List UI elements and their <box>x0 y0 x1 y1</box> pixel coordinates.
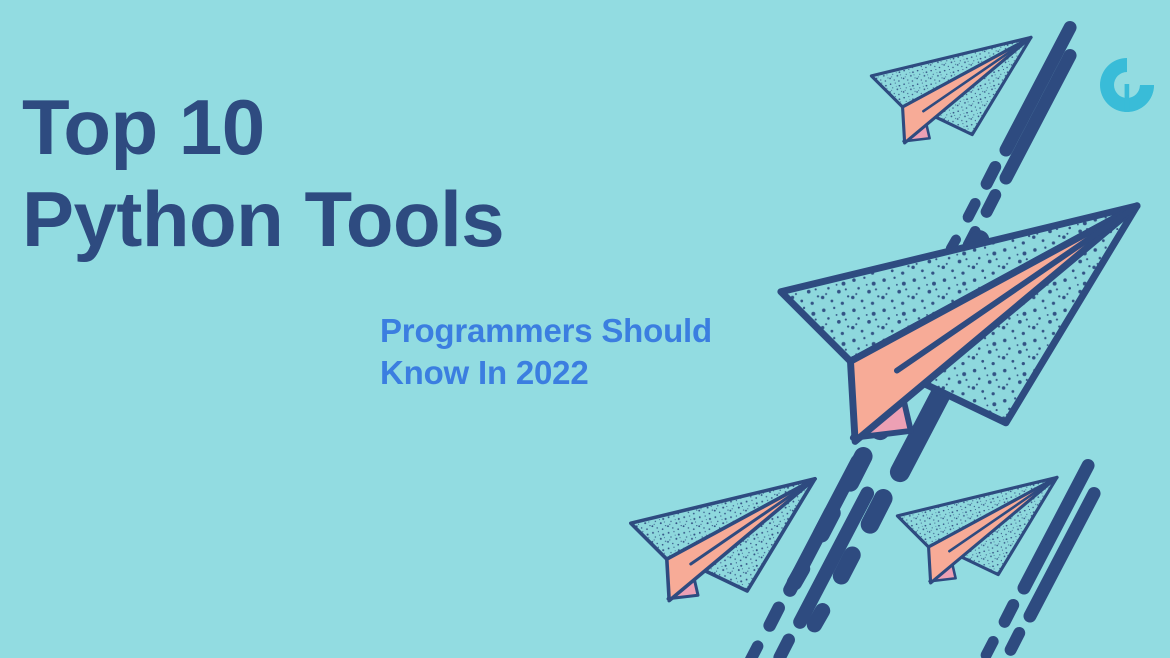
subtitle-line-1: Programmers Should <box>380 310 712 352</box>
title-line-1: Top 10 <box>22 88 504 168</box>
subtitle-line-2: Know In 2022 <box>380 352 712 394</box>
text-overlay: Top 10 Python Tools Programmers Should K… <box>0 0 1170 658</box>
title-line-2: Python Tools <box>22 180 504 260</box>
brand-logo <box>1098 56 1156 114</box>
banner-graphic: Top 10 Python Tools Programmers Should K… <box>0 0 1170 658</box>
page-title: Top 10 Python Tools <box>22 88 504 259</box>
page-subtitle: Programmers Should Know In 2022 <box>380 310 712 393</box>
brand-logo-icon <box>1098 56 1156 114</box>
